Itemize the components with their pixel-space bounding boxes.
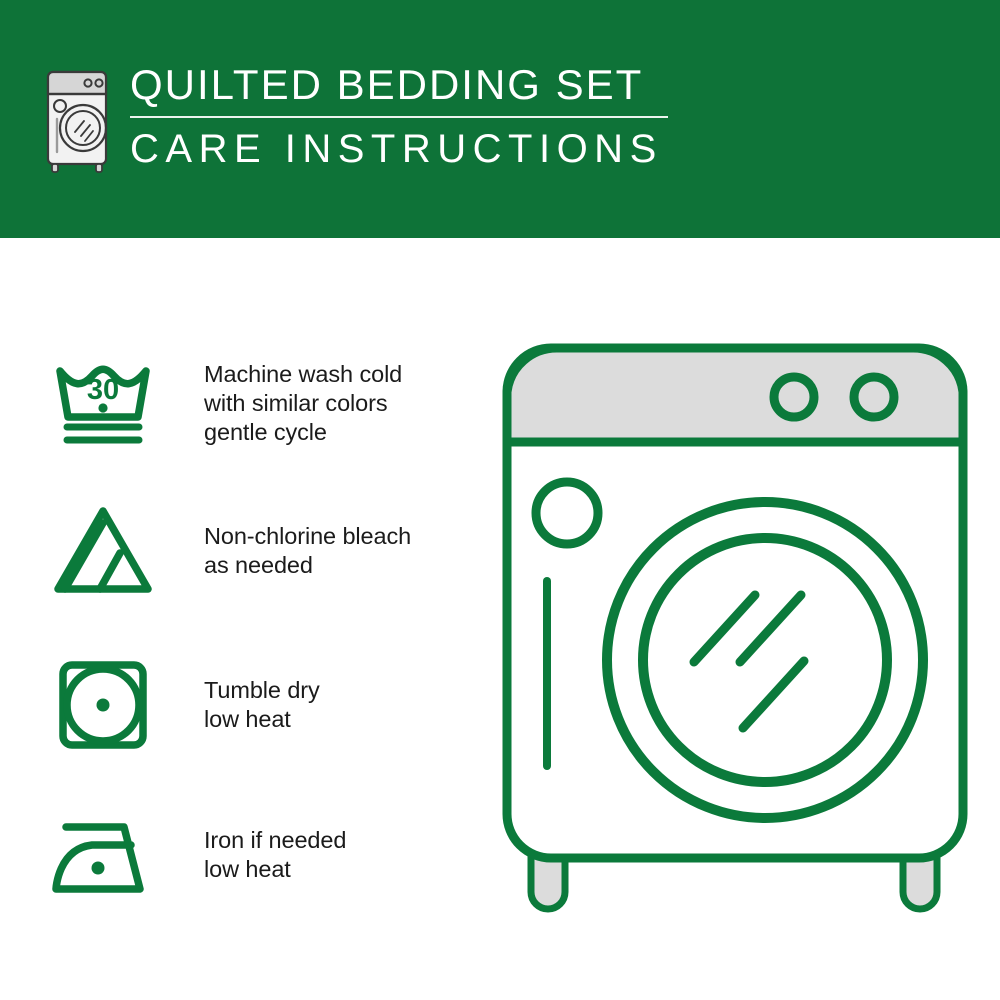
non-chlorine-bleach-triangle-icon <box>48 496 158 606</box>
header-content: QUILTED BEDDING SET CARE INSTRUCTIONS <box>44 62 668 176</box>
care-text-wash: Machine wash cold with similar colors ge… <box>204 360 402 447</box>
care-row-wash: 30 Machine wash cold with similar colors… <box>0 348 500 458</box>
care-text-line: Tumble dry <box>204 676 320 705</box>
tumble-dry-low-heat-icon <box>48 650 158 760</box>
care-text-line: Non-chlorine bleach <box>204 522 411 551</box>
care-text-line: gentle cycle <box>204 418 402 447</box>
header-band: QUILTED BEDDING SET CARE INSTRUCTIONS <box>0 0 1000 238</box>
care-text-line: as needed <box>204 551 411 580</box>
wash-temp-value: 30 <box>87 374 119 406</box>
page-title: QUILTED BEDDING SET <box>130 62 668 108</box>
wash-tub-30-gentle-icon: 30 <box>48 348 158 458</box>
care-text-tumble-dry: Tumble dry low heat <box>204 676 320 734</box>
washing-machine-icon <box>44 68 114 176</box>
page-subtitle: CARE INSTRUCTIONS <box>130 126 668 172</box>
iron-low-heat-icon <box>48 800 158 910</box>
care-instruction-list: 30 Machine wash cold with similar colors… <box>0 238 500 1000</box>
header-title-group: QUILTED BEDDING SET CARE INSTRUCTIONS <box>130 62 668 172</box>
care-text-line: low heat <box>204 705 320 734</box>
title-divider <box>130 116 668 118</box>
care-text-iron: Iron if needed low heat <box>204 826 346 884</box>
care-text-line: low heat <box>204 855 346 884</box>
care-text-line: Machine wash cold <box>204 360 402 389</box>
care-row-tumble-dry: Tumble dry low heat <box>0 650 500 760</box>
care-text-line: Iron if needed <box>204 826 346 855</box>
care-text-bleach: Non-chlorine bleach as needed <box>204 522 411 580</box>
care-instructions-infographic: QUILTED BEDDING SET CARE INSTRUCTIONS 30 <box>0 0 1000 1000</box>
care-row-iron: Iron if needed low heat <box>0 800 500 910</box>
care-text-line: with similar colors <box>204 389 402 418</box>
care-row-bleach: Non-chlorine bleach as needed <box>0 496 500 606</box>
front-load-washing-machine-illustration <box>495 330 975 930</box>
